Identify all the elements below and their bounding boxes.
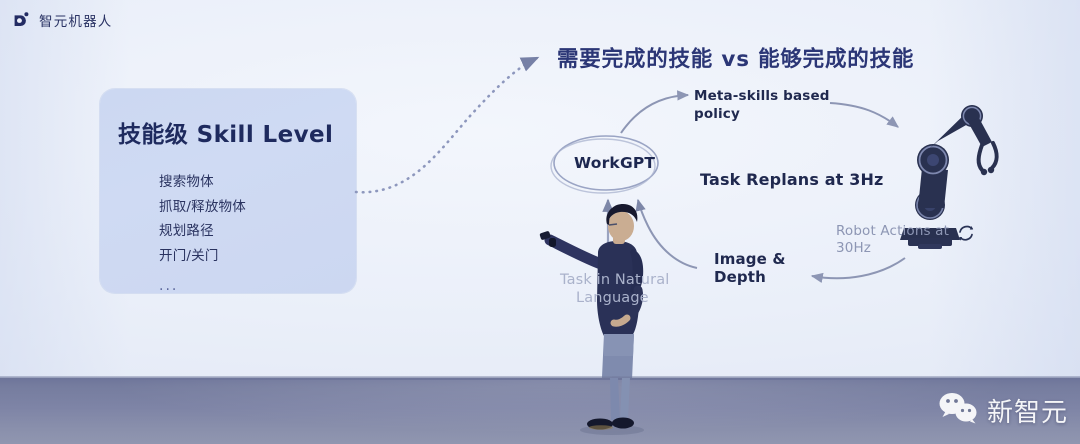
skill-level-card: 技能级 Skill Level 搜索物体 抓取/释放物体 规划路径 开门/关门 … bbox=[100, 89, 356, 293]
skill-card-title: 技能级 Skill Level bbox=[118, 115, 333, 149]
workgpt-node-label: WorkGPT bbox=[574, 155, 655, 173]
page-title: 需要完成的技能 vs 能够完成的技能 bbox=[557, 42, 914, 73]
meta-skills-label-line2: policy bbox=[694, 106, 740, 124]
image-depth-label-line2: Depth bbox=[714, 269, 766, 287]
stage-floor-sheen bbox=[0, 380, 1080, 444]
meta-skills-label-line1: Meta-skills based bbox=[694, 88, 830, 106]
watermark-text: 新智元 bbox=[987, 392, 1068, 429]
zhiyuan-d-logo-icon bbox=[12, 10, 32, 30]
image-depth-label-line1: Image & bbox=[714, 251, 786, 269]
robot-actions-label-line2: 30Hz bbox=[836, 240, 871, 258]
brand-name: 智元机器人 bbox=[39, 10, 113, 30]
skill-card-list: 搜索物体 抓取/释放物体 规划路径 开门/关门 ... bbox=[119, 170, 246, 299]
screenshot-root: 智元机器人 技能级 Skill Level 搜索物体 抓取/释放物体 规划路径 … bbox=[0, 0, 1080, 444]
watermark: 新智元 bbox=[937, 391, 1068, 430]
list-item: 规划路径 bbox=[159, 219, 246, 244]
task-natural-language-label-line2: Language bbox=[576, 290, 649, 308]
list-item: 开门/关门 bbox=[159, 244, 246, 269]
brand-logo: 智元机器人 bbox=[12, 10, 113, 30]
list-item-more: ... bbox=[159, 268, 246, 299]
list-item: 搜索物体 bbox=[159, 170, 246, 195]
list-item: 抓取/释放物体 bbox=[159, 195, 246, 220]
robot-actions-label-line1: Robot Actions at bbox=[836, 223, 949, 241]
task-natural-language-label-line1: Task in Natural bbox=[560, 272, 669, 290]
wechat-icon bbox=[937, 391, 979, 430]
task-replans-label: Task Replans at 3Hz bbox=[700, 171, 883, 189]
